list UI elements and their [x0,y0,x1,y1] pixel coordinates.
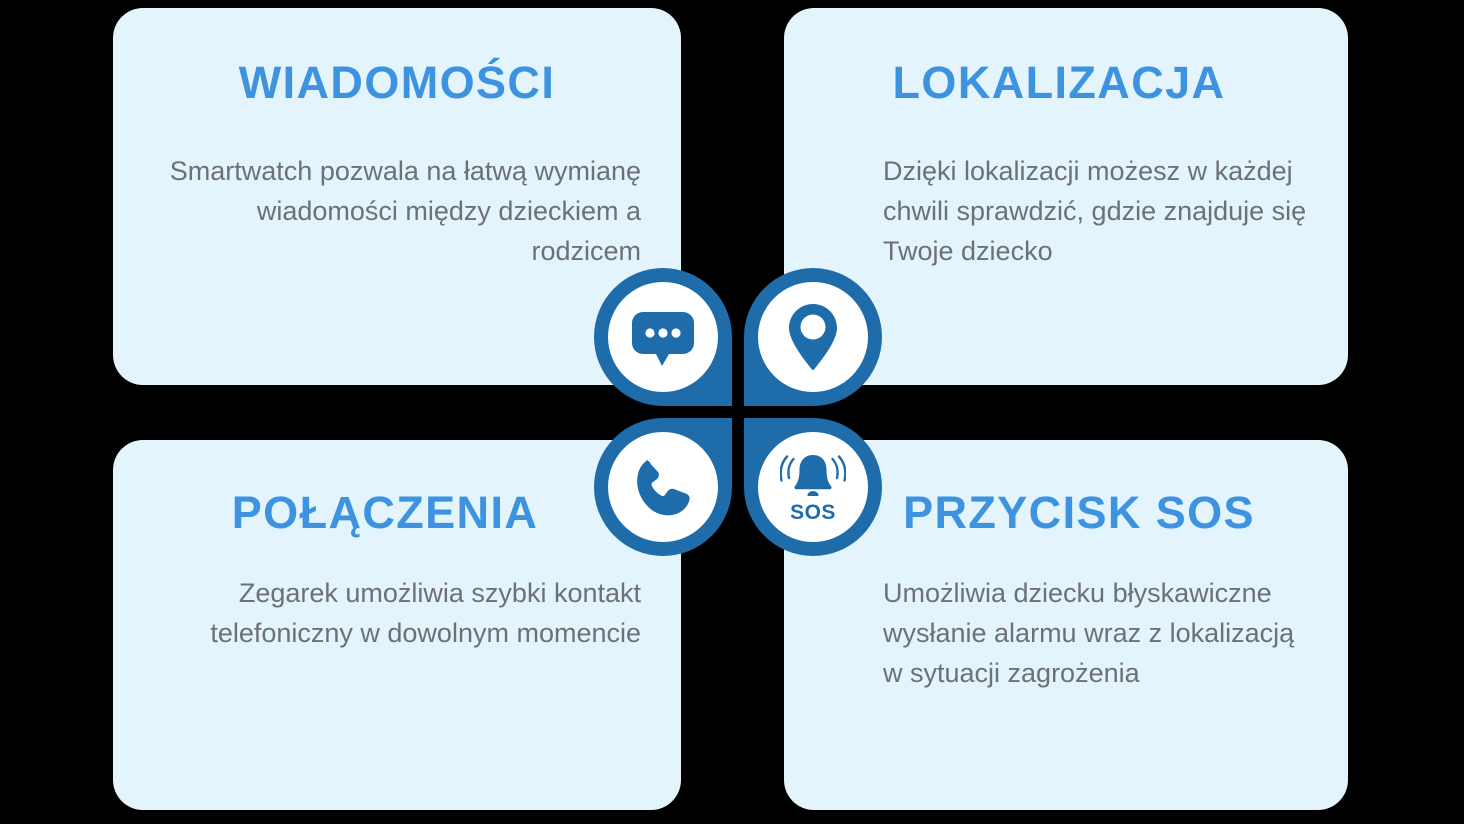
chat-bubble-icon [632,308,694,366]
sos-badge-label: SOS [790,502,836,523]
alarm-bell-icon [780,451,846,501]
feature-icon-cluster: SOS [594,268,882,556]
card-title-polaczenia: POŁĄCZENIA [123,490,647,535]
badge-face-sos: SOS [758,432,868,542]
badge-calls [594,418,732,556]
card-body-polaczenia: Zegarek umożliwia szybki kontakt telefon… [147,573,641,653]
phone-handset-icon [632,456,694,518]
card-body-lokalizacja: Dzięki lokalizacji możesz w każdej chwil… [883,151,1314,271]
badge-messages [594,268,732,406]
card-body-przycisk-sos: Umożliwia dziecku błyskawiczne wysłanie … [883,573,1314,693]
infographic-canvas: WIADOMOŚCI Smartwatch pozwala na łatwą w… [0,0,1464,824]
card-title-lokalizacja: LOKALIZACJA [804,60,1314,105]
badge-face-location [758,282,868,392]
badge-face-messages [608,282,718,392]
badge-location [744,268,882,406]
card-title-przycisk-sos: PRZYCISK SOS [844,490,1314,535]
badge-face-calls [608,432,718,542]
card-body-wiadomosci: Smartwatch pozwala na łatwą wymianę wiad… [147,151,641,271]
map-pin-icon [788,302,838,372]
card-title-wiadomosci: WIADOMOŚCI [147,60,647,105]
badge-sos: SOS [744,418,882,556]
